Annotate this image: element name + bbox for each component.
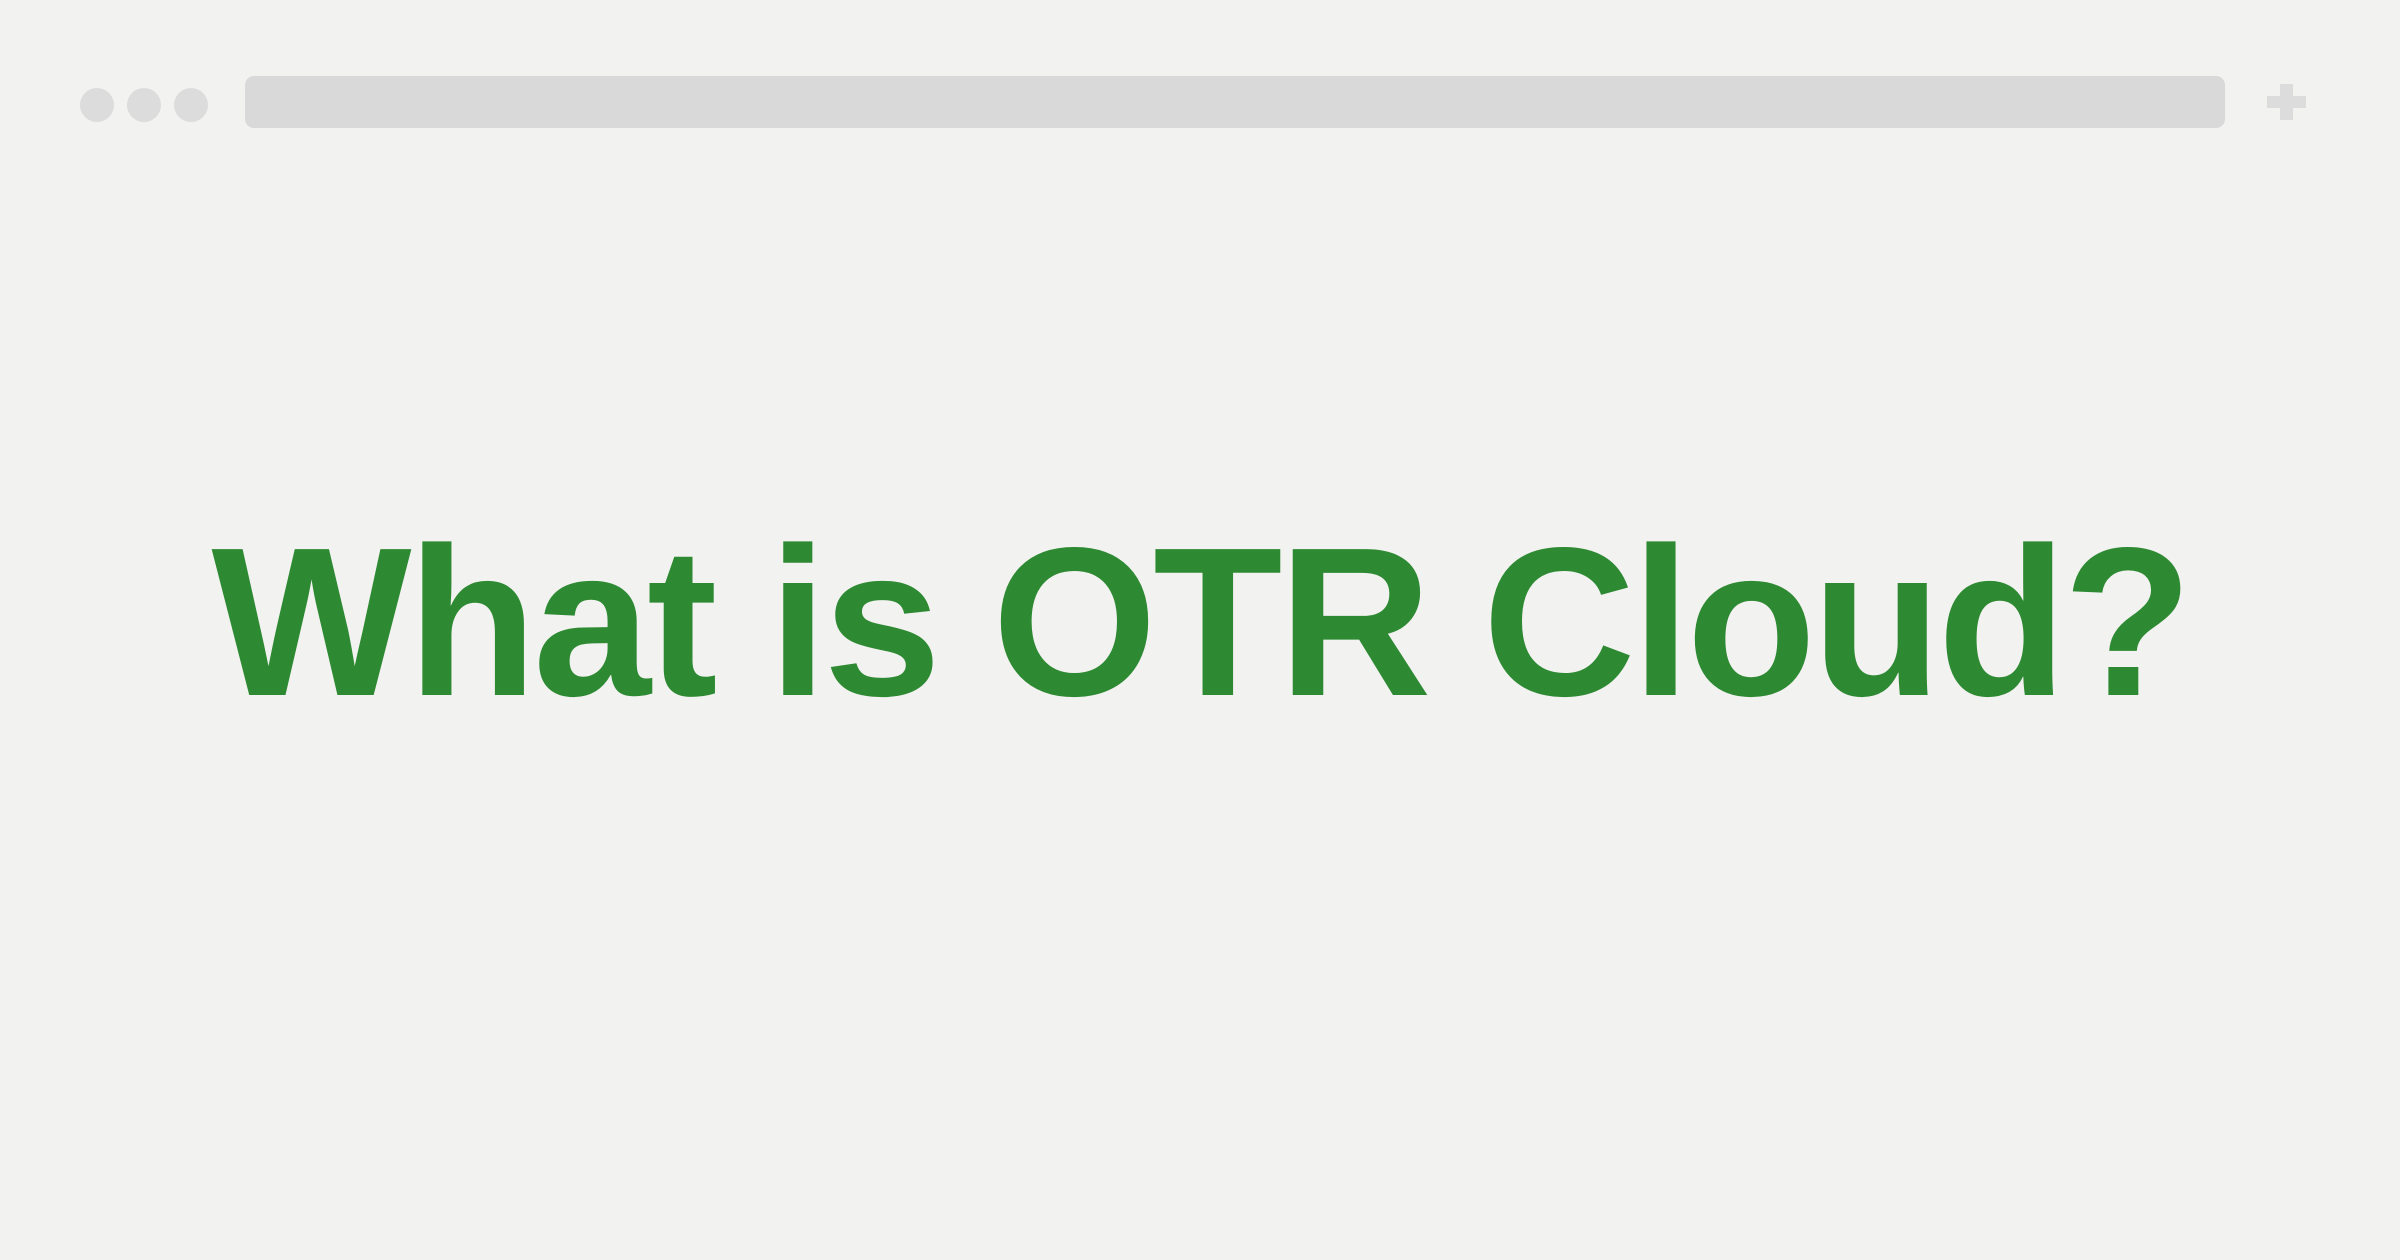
page-title: What is OTR Cloud? [151,511,2248,734]
slide-canvas: What is OTR Cloud? [0,0,2400,1260]
hero-section: What is OTR Cloud? [0,0,2400,1260]
